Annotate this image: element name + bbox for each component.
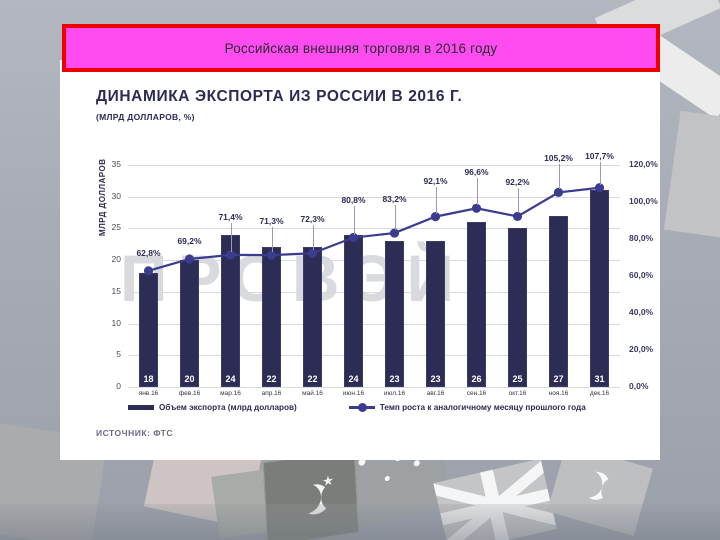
line-point-label: 96,6% <box>464 167 488 177</box>
x-axis-label: дек.16 <box>590 390 609 397</box>
legend-label-export-volume: Объем экспорта (млрд долларов) <box>159 403 297 412</box>
chart-plot-area: 05101520253035 0,0%20,0%40,0%60,0%80,0%1… <box>128 165 620 387</box>
secondary-y-axis-tick: 60,0% <box>629 270 653 280</box>
line-marker <box>144 266 153 275</box>
y-axis-tick: 0 <box>116 381 121 391</box>
label-leader-line <box>354 206 355 235</box>
source-note: ИСТОЧНИК: ФТС <box>96 428 173 438</box>
label-leader-line <box>436 187 437 214</box>
chart-legend: Объем экспорта (млрд долларов) Темп рост… <box>128 403 628 412</box>
secondary-y-axis-tick: 80,0% <box>629 233 653 243</box>
slide-title-banner: Российская внешняя торговля в 2016 году <box>62 24 660 72</box>
x-axis-label: мар.16 <box>220 390 241 397</box>
chart-subtitle: (МЛРД ДОЛЛАРОВ, %) <box>96 112 195 122</box>
gridline <box>128 387 620 388</box>
y-axis-tick: 5 <box>116 349 121 359</box>
star-icon: ★ <box>322 473 334 488</box>
x-axis-label: авг.16 <box>427 390 445 397</box>
y-axis-label: МЛРД ДОЛЛАРОВ <box>98 159 107 237</box>
line-point-label: 92,2% <box>505 177 529 187</box>
line-point-label: 107,7% <box>585 151 614 161</box>
secondary-y-axis-tick: 120,0% <box>629 159 658 169</box>
x-axis-label: окт.16 <box>509 390 527 397</box>
label-leader-line <box>313 225 314 250</box>
x-axis-label: июл.16 <box>384 390 405 397</box>
label-leader-line <box>559 164 560 189</box>
secondary-y-axis-tick: 20,0% <box>629 344 653 354</box>
label-leader-line <box>600 162 601 185</box>
secondary-y-axis-tick: 100,0% <box>629 196 658 206</box>
line-point-label: 80,8% <box>341 195 365 205</box>
y-axis-tick: 20 <box>112 254 121 264</box>
background-bottom-strip <box>0 504 720 540</box>
slide-title-text: Российская внешняя торговля в 2016 году <box>225 41 498 56</box>
x-axis-label: янв.16 <box>139 390 159 397</box>
line-point-label: 71,3% <box>259 216 283 226</box>
label-leader-line <box>518 188 519 213</box>
legend-item-export-volume: Объем экспорта (млрд долларов) <box>128 403 297 412</box>
line-point-label: 72,3% <box>300 214 324 224</box>
label-leader-line <box>395 205 396 230</box>
x-axis-label: ноя.16 <box>549 390 569 397</box>
line-series <box>128 165 620 387</box>
line-point-label: 62,8% <box>136 248 160 258</box>
y-axis-tick: 25 <box>112 222 121 232</box>
label-leader-line <box>272 227 273 252</box>
x-axis-label: фев.16 <box>179 390 200 397</box>
line-point-label: 69,2% <box>177 236 201 246</box>
line-point-label: 105,2% <box>544 153 573 163</box>
y-axis-tick: 10 <box>112 318 121 328</box>
y-axis-tick: 15 <box>112 286 121 296</box>
legend-bar-swatch-icon <box>128 405 154 410</box>
line-marker <box>185 254 194 263</box>
legend-label-growth-rate: Темп роста к аналогичному месяцу прошлог… <box>380 403 586 412</box>
chart-title: ДИНАМИКА ЭКСПОРТА ИЗ РОССИИ В 2016 Г. <box>96 88 462 106</box>
line-point-label: 92,1% <box>423 176 447 186</box>
x-axis-label: июн.16 <box>343 390 364 397</box>
line-point-label: 83,2% <box>382 194 406 204</box>
legend-item-growth-rate: Темп роста к аналогичному месяцу прошлог… <box>349 403 586 412</box>
label-leader-line <box>477 178 478 205</box>
line-point-label: 71,4% <box>218 212 242 222</box>
label-leader-line <box>231 223 232 252</box>
secondary-y-axis-tick: 40,0% <box>629 307 653 317</box>
legend-line-swatch-icon <box>349 406 375 409</box>
x-axis-label: май.16 <box>302 390 323 397</box>
secondary-y-axis-tick: 0,0% <box>629 381 648 391</box>
x-axis-label: апр.16 <box>262 390 282 397</box>
x-axis-label: сен.16 <box>467 390 487 397</box>
y-axis-tick: 30 <box>112 191 121 201</box>
y-axis-tick: 35 <box>112 159 121 169</box>
